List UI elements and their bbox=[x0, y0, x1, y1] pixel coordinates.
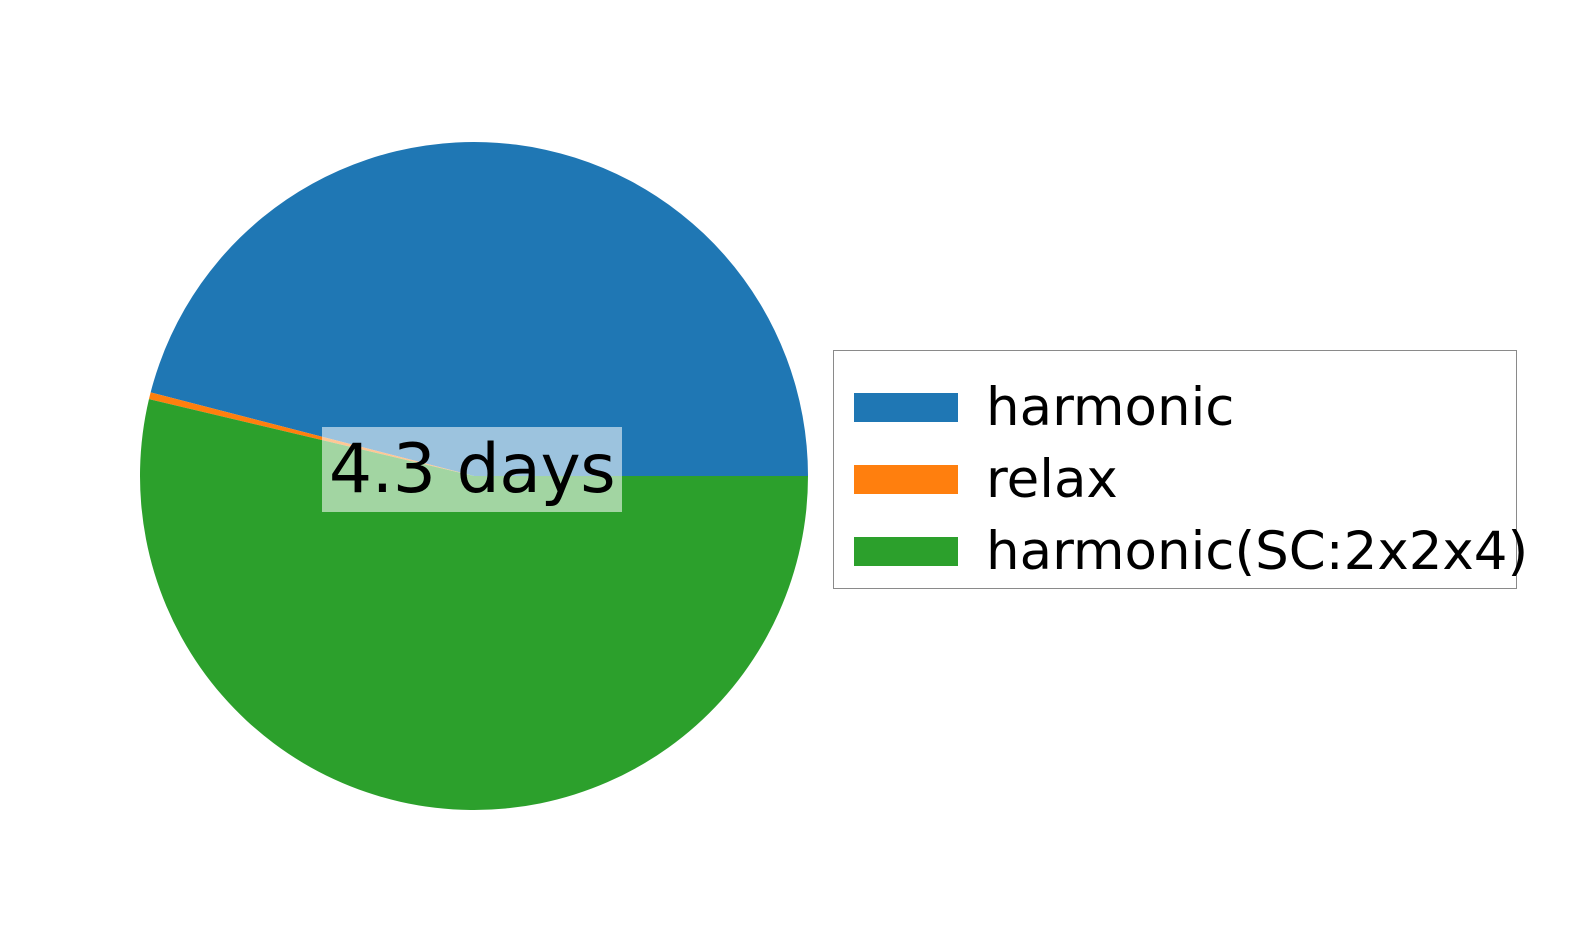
legend-item-harmonic[interactable]: harmonic bbox=[854, 371, 1516, 443]
pie-slice-value-label: 4.3 days bbox=[322, 427, 622, 512]
legend-swatch-harmonic bbox=[854, 393, 958, 422]
legend-label-harmonic: harmonic bbox=[986, 381, 1234, 434]
chart-legend: harmonic relax harmonic(SC:2x2x4) bbox=[833, 350, 1517, 589]
legend-item-relax[interactable]: relax bbox=[854, 443, 1516, 515]
legend-swatch-relax bbox=[854, 465, 958, 494]
legend-swatch-harmonic-sc bbox=[854, 537, 958, 566]
pie-slice-value-text: 4.3 days bbox=[329, 436, 615, 504]
pie-chart-figure: 4.3 days harmonic relax harmonic(SC:2x2x… bbox=[0, 0, 1584, 951]
legend-label-relax: relax bbox=[986, 453, 1118, 506]
legend-item-harmonic-sc[interactable]: harmonic(SC:2x2x4) bbox=[854, 515, 1516, 587]
legend-label-harmonic-sc: harmonic(SC:2x2x4) bbox=[986, 525, 1528, 578]
